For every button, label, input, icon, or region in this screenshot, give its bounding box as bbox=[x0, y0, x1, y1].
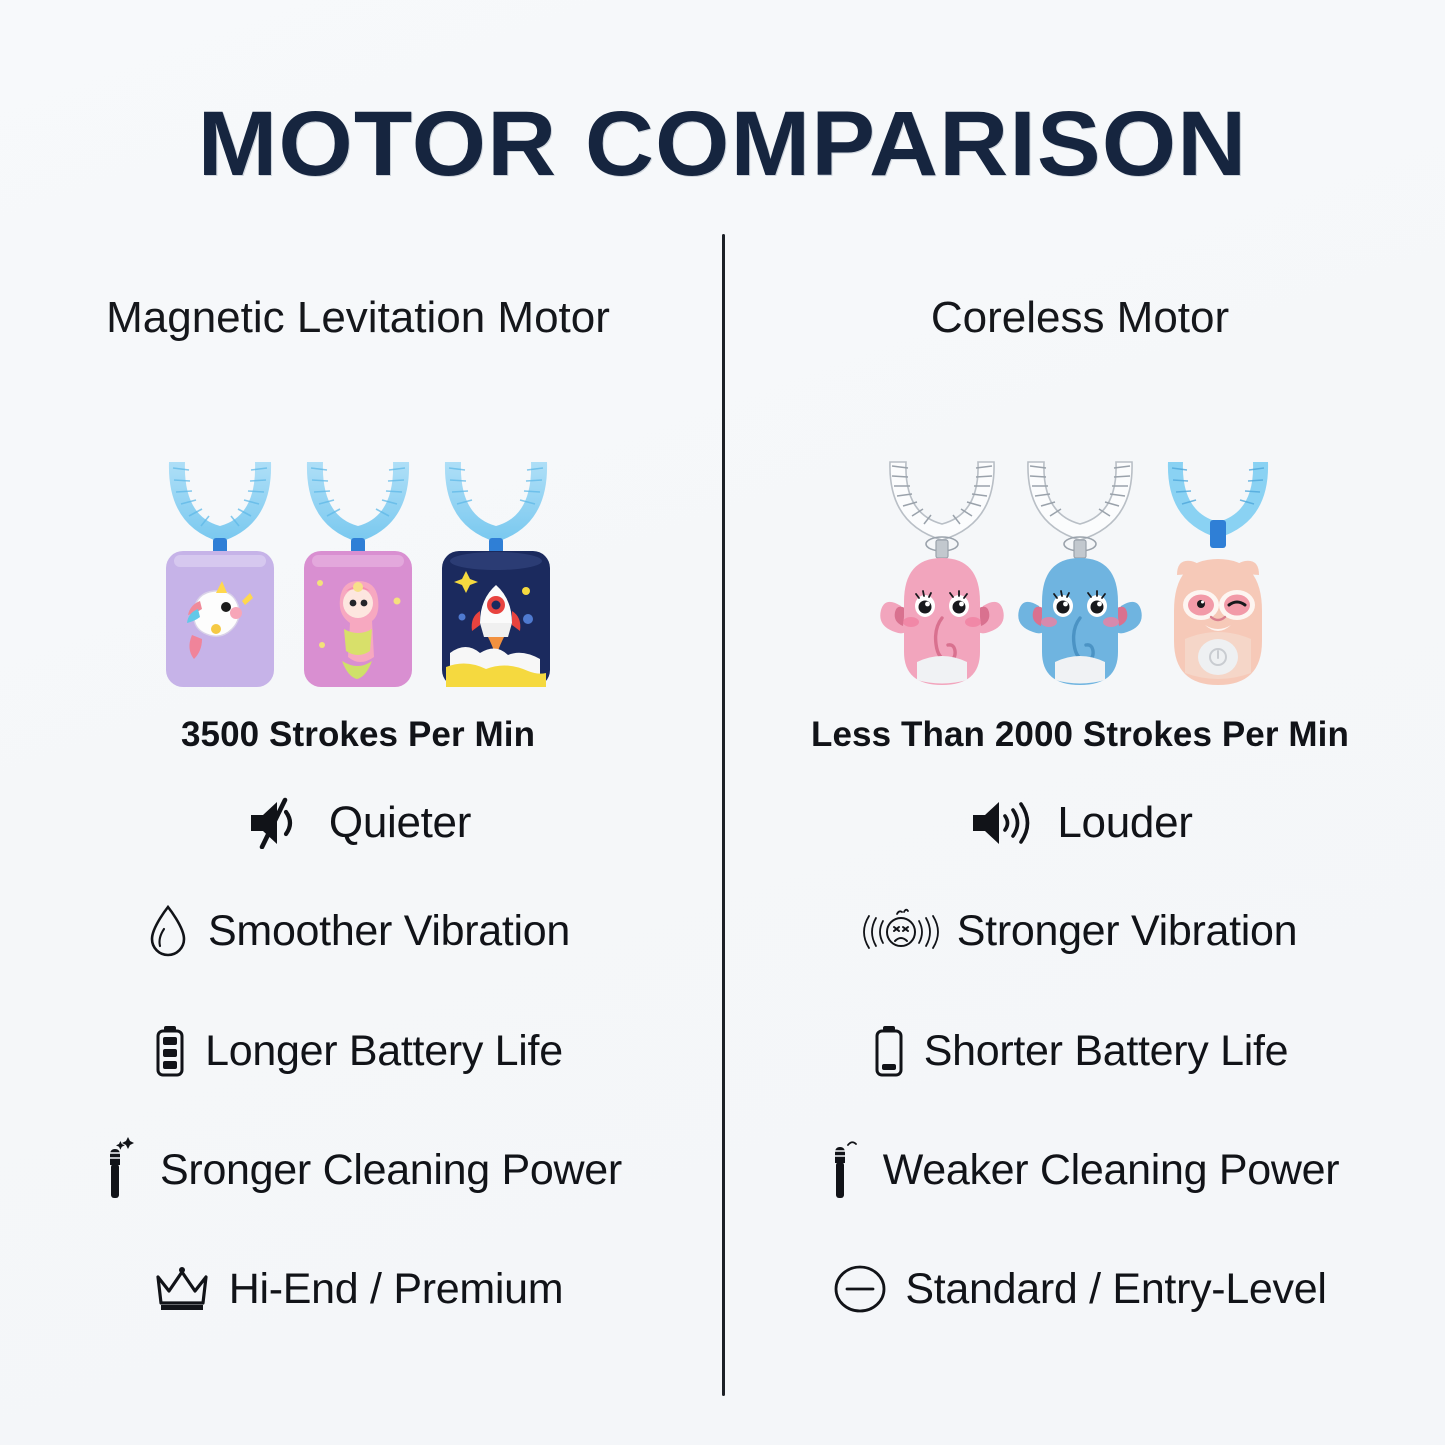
feature-label: Weaker Cleaning Power bbox=[883, 1146, 1340, 1195]
column-heading-right: Coreless Motor bbox=[730, 285, 1430, 422]
feature-row-shorter-battery: Shorter Battery Life bbox=[730, 991, 1430, 1111]
pink-elephant-body-shell bbox=[879, 554, 1005, 689]
toothbrush-icon bbox=[821, 1137, 865, 1203]
product-pink-elephant-toothbrush bbox=[880, 454, 1004, 689]
product-row-left bbox=[8, 444, 708, 689]
rocket-body-shell bbox=[440, 549, 552, 689]
column-coreless: Coreless Motor bbox=[730, 285, 1430, 1349]
toothbrush-sparkle-icon bbox=[94, 1137, 142, 1203]
u-brush-head-icon bbox=[1016, 454, 1144, 564]
column-heading-left: Magnetic Levitation Motor bbox=[8, 285, 708, 422]
feature-row-hi-end: Hi-End / Premium bbox=[8, 1229, 708, 1349]
shaking-face-icon bbox=[863, 904, 939, 958]
battery-full-icon bbox=[153, 1024, 187, 1078]
feature-row-stronger-cleaning: Sronger Cleaning Power bbox=[8, 1111, 708, 1229]
feature-label: Quieter bbox=[329, 798, 471, 848]
feature-row-weaker-cleaning: Weaker Cleaning Power bbox=[730, 1111, 1430, 1229]
crown-icon bbox=[153, 1265, 211, 1313]
product-row-right bbox=[730, 444, 1430, 689]
strokes-per-min-left: 3500 Strokes Per Min bbox=[8, 715, 708, 755]
u-brush-head-icon bbox=[878, 454, 1006, 564]
u-brush-head-icon bbox=[1158, 454, 1278, 564]
page-title: MOTOR COMPARISON bbox=[0, 92, 1445, 197]
column-magnetic-levitation: Magnetic Levitation Motor bbox=[8, 285, 708, 1349]
water-drop-icon bbox=[146, 903, 190, 959]
battery-low-icon bbox=[872, 1024, 906, 1078]
feature-label: Stronger Vibration bbox=[957, 907, 1297, 956]
feature-label: Longer Battery Life bbox=[205, 1027, 563, 1076]
product-pink-panda-toothbrush bbox=[1156, 454, 1280, 689]
unicorn-body-shell bbox=[164, 549, 276, 689]
feature-row-quieter: Quieter bbox=[8, 775, 708, 871]
product-blue-elephant-toothbrush bbox=[1018, 454, 1142, 689]
u-brush-head-icon bbox=[435, 454, 557, 564]
product-rocket-toothbrush bbox=[434, 454, 558, 689]
feature-label: Sronger Cleaning Power bbox=[160, 1146, 622, 1195]
feature-row-standard: Standard / Entry-Level bbox=[730, 1229, 1430, 1349]
u-brush-head-icon bbox=[159, 454, 281, 564]
panda-body-shell bbox=[1159, 553, 1277, 689]
product-unicorn-toothbrush bbox=[158, 454, 282, 689]
feature-row-longer-battery: Longer Battery Life bbox=[8, 991, 708, 1111]
feature-label: Standard / Entry-Level bbox=[905, 1265, 1326, 1314]
feature-list-right: Louder bbox=[730, 775, 1430, 1349]
speaker-mute-icon bbox=[245, 797, 307, 849]
product-mermaid-toothbrush bbox=[296, 454, 420, 689]
speaker-loud-icon bbox=[967, 797, 1035, 849]
blue-elephant-body-shell bbox=[1017, 554, 1143, 689]
feature-row-smoother-vibration: Smoother Vibration bbox=[8, 871, 708, 991]
column-divider bbox=[722, 234, 725, 1396]
u-brush-head-icon bbox=[297, 454, 419, 564]
feature-label: Shorter Battery Life bbox=[924, 1027, 1288, 1076]
feature-list-left: Quieter Smoother Vibration bbox=[8, 775, 708, 1349]
feature-label: Smoother Vibration bbox=[208, 907, 570, 956]
feature-label: Hi-End / Premium bbox=[229, 1265, 564, 1314]
minus-circle-icon bbox=[833, 1263, 887, 1315]
feature-row-louder: Louder bbox=[730, 775, 1430, 871]
feature-label: Louder bbox=[1057, 798, 1192, 848]
motor-comparison-poster: MOTOR COMPARISON Magnetic Levitation Mot… bbox=[0, 0, 1445, 1445]
mermaid-body-shell bbox=[302, 549, 414, 689]
feature-row-stronger-vibration: Stronger Vibration bbox=[730, 871, 1430, 991]
strokes-per-min-right: Less Than 2000 Strokes Per Min bbox=[730, 715, 1430, 755]
